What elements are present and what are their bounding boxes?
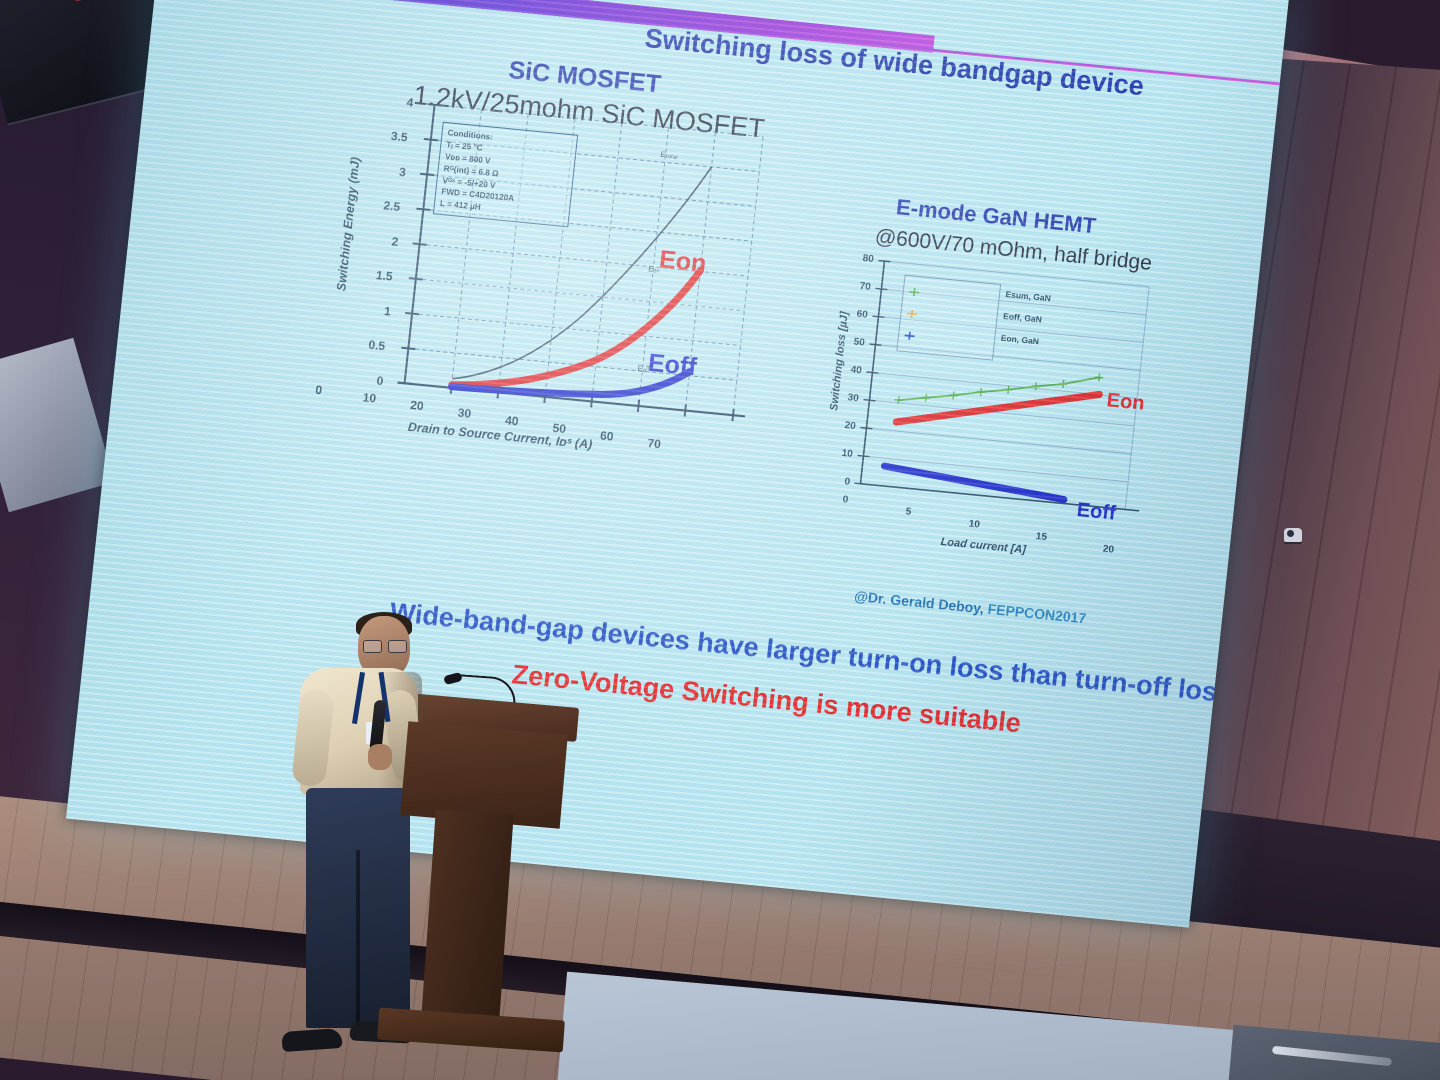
presenter-hand <box>368 744 392 770</box>
sic-eoff-callout: Eoff <box>647 349 698 383</box>
credit-author: @Dr. Gerald Deboy, <box>854 588 985 616</box>
page-title: Switching loss of wide bandgap device <box>643 23 1263 114</box>
presenter-shoe-left <box>281 1028 342 1052</box>
glasses-lens-left <box>363 640 382 653</box>
credit-conference: FEPPCON2017 <box>983 600 1087 626</box>
auditorium-scene: UNIVERSITY Switching loss of wide bandga… <box>0 0 1440 1080</box>
trouser-seam <box>356 850 360 1028</box>
projection-area: UNIVERSITY Switching loss of wide bandga… <box>0 0 1440 1080</box>
gan-eon-callout: Eon <box>1106 389 1146 416</box>
gan-eoff-callout: Eoff <box>1076 499 1117 526</box>
projection-screen: UNIVERSITY Switching loss of wide bandga… <box>66 0 1291 928</box>
chart-credit: @Dr. Gerald Deboy, FEPPCON2017 <box>854 588 1087 626</box>
gan-hemt-chart: 80 70 60 50 40 30 20 10 0 0 5 10 15 20 S… <box>790 241 1220 578</box>
glasses-lens-right <box>388 640 407 653</box>
podium-column <box>420 810 513 1037</box>
sic-eon-callout: Eon <box>658 245 708 278</box>
svg-text:Eₜₒₜₐₗ: Eₜₒₜₐₗ <box>660 150 678 161</box>
conditions-box: Conditions: Tⱼ = 25 °C Vᴅᴅ = 800 V Rᴳ(in… <box>433 122 578 228</box>
